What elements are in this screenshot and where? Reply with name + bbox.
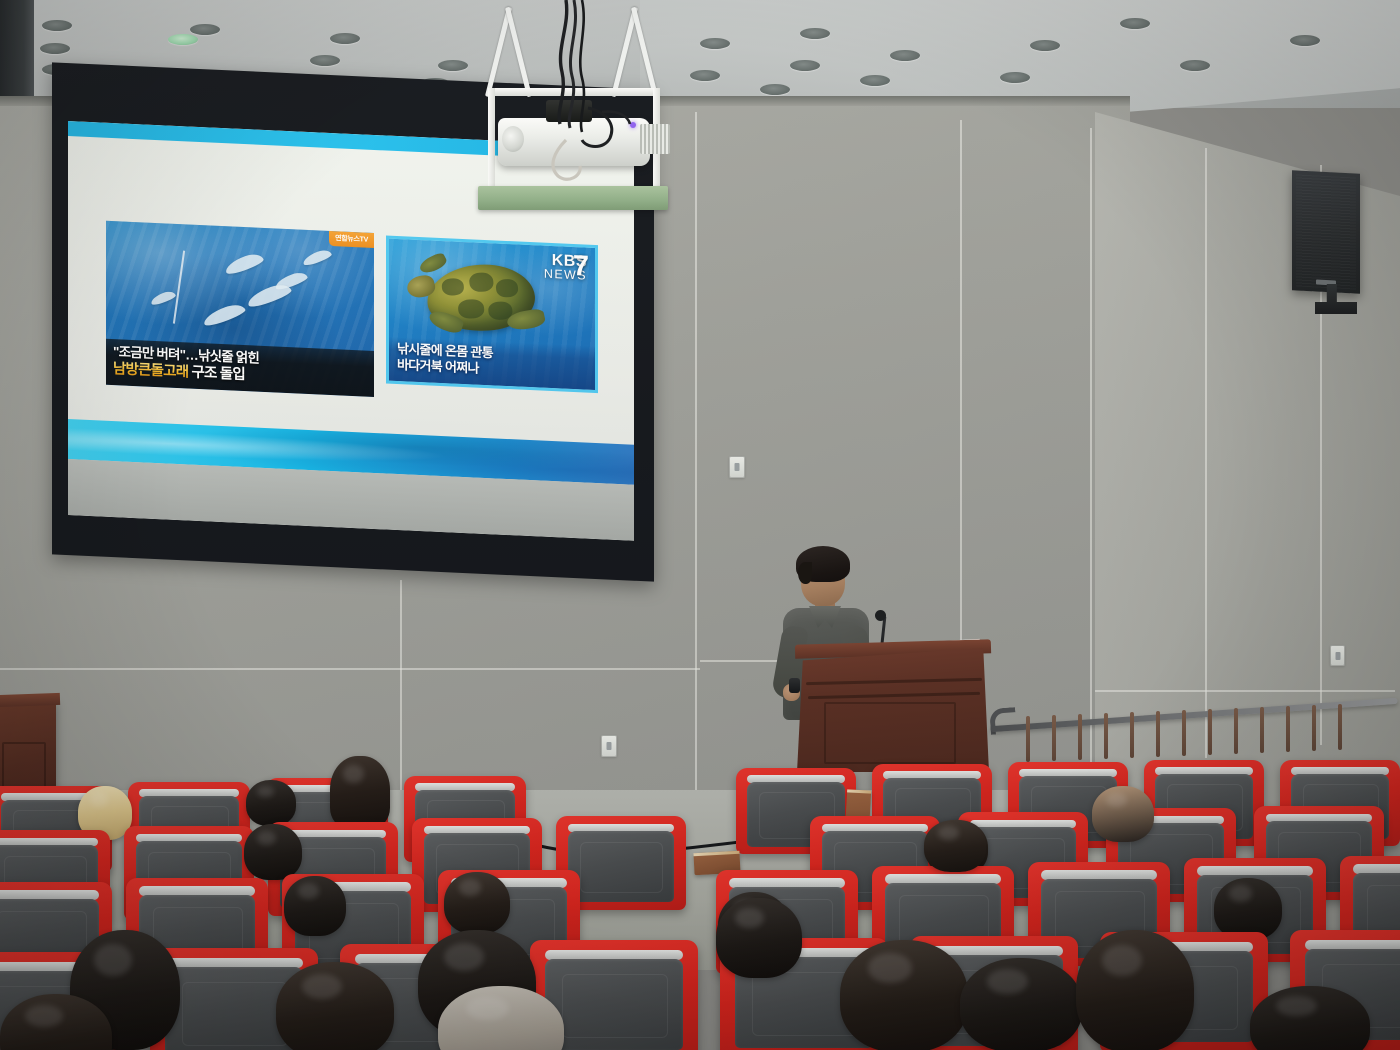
stair-railing bbox=[990, 706, 1398, 768]
wall-seam bbox=[1205, 148, 1207, 758]
news-panel-right: KBS NEWS 7 낚시줄에 온몸 관통 바다거북 어쩌나 bbox=[386, 235, 598, 393]
turtle-scute bbox=[441, 278, 465, 296]
ceiling-projector-assembly bbox=[470, 0, 680, 215]
audience-head bbox=[924, 820, 986, 872]
railing-baluster bbox=[1104, 713, 1108, 759]
podium-front-panel bbox=[824, 702, 956, 764]
audience-head bbox=[444, 872, 510, 934]
downlight-icon bbox=[860, 75, 890, 86]
projector-cable-bundle bbox=[470, 0, 680, 200]
speaker-grill-icon bbox=[1296, 174, 1356, 289]
downlight-icon bbox=[310, 55, 340, 66]
wall-seam bbox=[400, 580, 402, 810]
downlight-icon bbox=[790, 60, 820, 71]
audience-head bbox=[1214, 878, 1282, 940]
downlight-icon bbox=[890, 50, 920, 61]
wall-outlet-plate bbox=[601, 735, 617, 757]
railing-baluster bbox=[1260, 707, 1264, 753]
wall-seam bbox=[0, 668, 700, 670]
downlight-icon bbox=[800, 28, 830, 39]
turtle-scute bbox=[495, 279, 519, 298]
audience-head bbox=[276, 962, 394, 1050]
wall-speaker bbox=[1292, 170, 1360, 294]
railing-baluster bbox=[1130, 712, 1134, 758]
railing-baluster bbox=[1338, 704, 1342, 750]
audience-head bbox=[1250, 986, 1370, 1050]
broadcaster-badge-yonhap: 연합뉴스TV bbox=[329, 231, 374, 248]
audience-head bbox=[960, 958, 1082, 1050]
broadcaster-logo-kbs: KBS NEWS 7 bbox=[544, 254, 587, 282]
audience-head bbox=[244, 824, 302, 880]
downlight-icon bbox=[190, 24, 220, 35]
presenter-hair bbox=[796, 546, 850, 582]
railing-baluster bbox=[1234, 708, 1238, 754]
audience-head bbox=[246, 780, 296, 826]
downlight-icon bbox=[438, 60, 468, 71]
railing-baluster bbox=[1312, 705, 1316, 751]
downlight-icon bbox=[1180, 60, 1210, 71]
news-caption-right: 낚시줄에 온몸 관통 바다거북 어쩌나 bbox=[389, 337, 595, 390]
side-desk-top bbox=[0, 693, 60, 707]
downlight-icon bbox=[330, 33, 360, 44]
turtle-scute bbox=[468, 272, 494, 292]
presenter-remote bbox=[789, 678, 800, 693]
downlight-icon bbox=[700, 38, 730, 49]
railing-baluster bbox=[1286, 706, 1290, 752]
audience-head bbox=[716, 898, 802, 978]
headline-rest: 구조 돌입 bbox=[188, 364, 245, 383]
railing-baluster bbox=[1078, 714, 1082, 760]
audience-head bbox=[330, 756, 390, 828]
downlight-icon bbox=[40, 43, 70, 54]
downlight-icon bbox=[1290, 35, 1320, 46]
downlight-lit-icon bbox=[168, 34, 198, 45]
railing-baluster bbox=[1026, 716, 1030, 762]
railing-baluster bbox=[1208, 709, 1212, 755]
wall-seam bbox=[1095, 690, 1395, 692]
wall-seam bbox=[1090, 128, 1092, 768]
audience-head bbox=[1092, 786, 1154, 842]
wall-seam bbox=[695, 112, 697, 812]
downlight-icon bbox=[1000, 72, 1030, 83]
audience-head bbox=[840, 940, 968, 1050]
news-panel-left: 연합뉴스TV "조금만 버텨"…낚싯줄 얽힌 남방큰돌고래 구조 돌입 bbox=[106, 221, 374, 397]
turtle-scute bbox=[457, 299, 485, 320]
headline-highlight: 남방큰돌고래 bbox=[113, 361, 188, 380]
audience-head bbox=[284, 876, 346, 936]
downlight-icon bbox=[1120, 18, 1150, 29]
downlight-icon bbox=[760, 84, 790, 95]
wall-outlet-plate bbox=[1330, 645, 1345, 666]
railing-baluster bbox=[1156, 711, 1160, 757]
lecture-hall-scene: 연합뉴스TV "조금만 버텨"…낚싯줄 얽힌 남방큰돌고래 구조 돌입 bbox=[0, 0, 1400, 1050]
downlight-icon bbox=[1030, 40, 1060, 51]
railing-baluster bbox=[1052, 715, 1056, 761]
kbs-channel-number: 7 bbox=[573, 252, 589, 282]
downlight-icon bbox=[42, 20, 72, 31]
microphone-icon bbox=[875, 610, 886, 621]
wall-outlet-plate bbox=[729, 456, 745, 478]
railing-baluster bbox=[1182, 710, 1186, 756]
downlight-icon bbox=[690, 70, 720, 81]
audience-head bbox=[1076, 930, 1194, 1050]
